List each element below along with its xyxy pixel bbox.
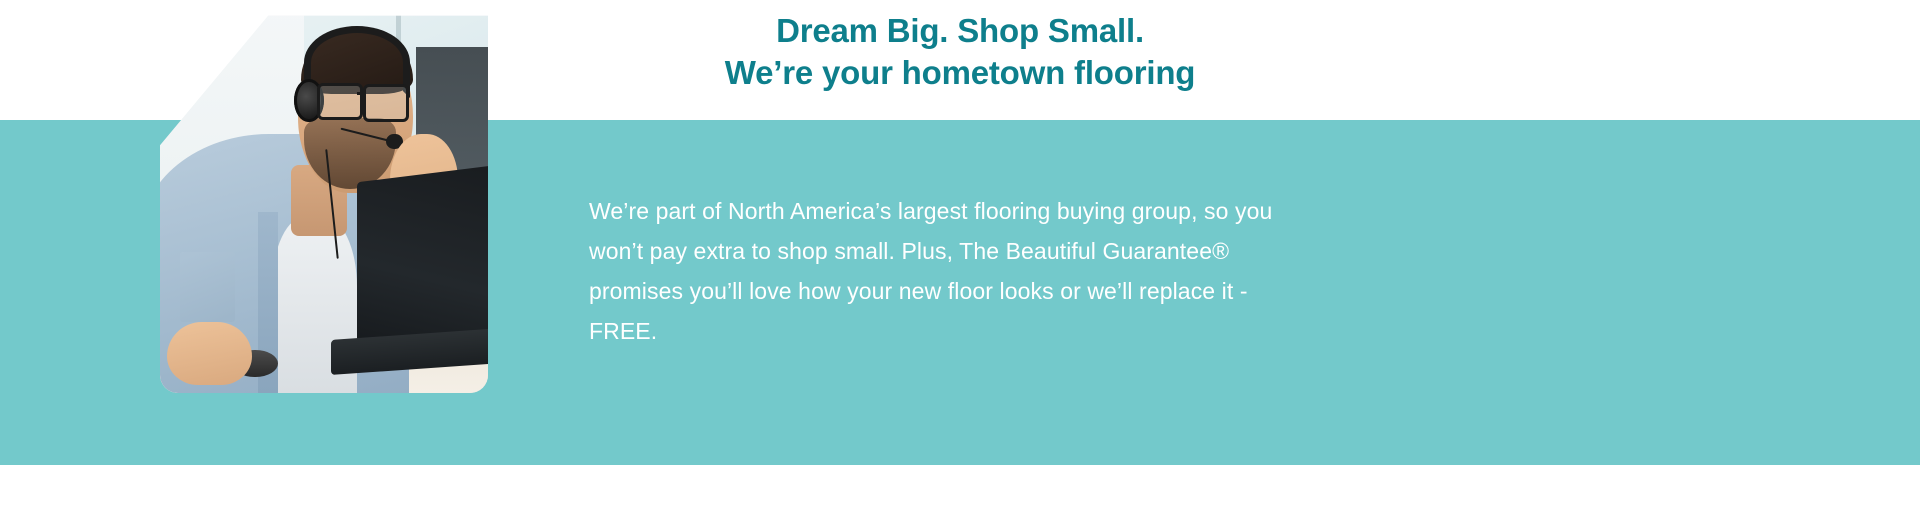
- photo-inner: [160, 0, 488, 393]
- glasses-bridge-icon: [357, 92, 365, 95]
- shirt-pocket: [180, 252, 236, 323]
- person-hand-on-mouse: [167, 322, 252, 385]
- promo-banner: Dream Big. Shop Small. We’re your hometo…: [0, 0, 1920, 528]
- glasses-left-lens-icon: [317, 83, 362, 120]
- customer-support-photo: [160, 0, 488, 393]
- body-copy: We’re part of North America’s largest fl…: [589, 191, 1289, 351]
- glasses-right-lens-icon: [363, 84, 408, 121]
